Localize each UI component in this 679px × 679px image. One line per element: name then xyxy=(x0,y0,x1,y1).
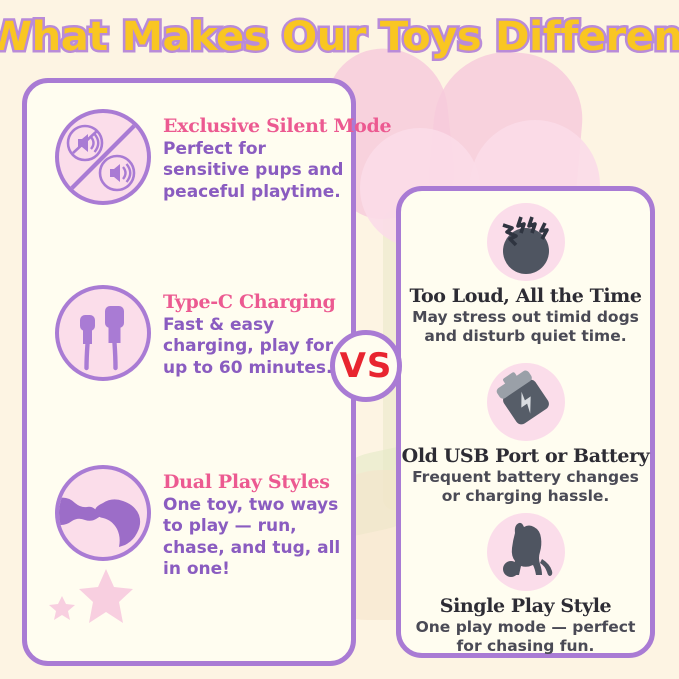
pros-item-body: Perfect for sensitive pups and peaceful … xyxy=(163,139,353,203)
cons-item-body: Frequent battery changes or charging has… xyxy=(401,468,650,506)
cons-item-heading: Single Play Style xyxy=(401,595,650,617)
pros-item-text: Exclusive Silent Mode Perfect for sensit… xyxy=(163,109,391,203)
pros-item-heading: Type-C Charging xyxy=(163,291,351,313)
pros-panel: Exclusive Silent Mode Perfect for sensit… xyxy=(22,78,356,666)
silent-mode-icon xyxy=(55,109,151,205)
usb-type-c-cable-icon xyxy=(55,285,151,381)
cons-item-body: One play mode — perfect for chasing fun. xyxy=(401,618,650,656)
cons-item-old-usb-battery: Old USB Port or Battery Frequent battery… xyxy=(401,363,650,506)
tug-of-war-dog-icon xyxy=(55,465,151,561)
title-banner: What Makes Our Toys Different xyxy=(0,14,679,60)
pros-item-dual-play-styles: Dual Play Styles One toy, two ways to pl… xyxy=(55,465,351,581)
pros-item-type-c-charging: Type-C Charging Fast & easy charging, pl… xyxy=(55,285,351,381)
cons-item-heading: Old USB Port or Battery xyxy=(401,445,650,467)
cons-item-single-play-style: Single Play Style One play mode — perfec… xyxy=(401,513,650,656)
pros-item-text: Type-C Charging Fast & easy charging, pl… xyxy=(163,285,351,379)
pros-item-heading: Dual Play Styles xyxy=(163,471,351,493)
vs-label: VS xyxy=(340,349,393,383)
battery-icon xyxy=(487,363,565,441)
infographic-canvas: What Makes Our Toys Different xyxy=(0,0,679,679)
pros-item-heading: Exclusive Silent Mode xyxy=(163,115,391,137)
pros-item-text: Dual Play Styles One toy, two ways to pl… xyxy=(163,465,351,581)
page-title: What Makes Our Toys Different xyxy=(0,14,679,60)
cons-item-heading: Too Loud, All the Time xyxy=(401,285,650,307)
cons-item-body: May stress out timid dogs and disturb qu… xyxy=(401,308,650,346)
pros-item-body: One toy, two ways to play — run, chase, … xyxy=(163,495,351,581)
vs-badge: VS xyxy=(330,330,402,402)
flower-decoration-large xyxy=(75,567,137,629)
cons-item-too-loud: Too Loud, All the Time May stress out ti… xyxy=(401,203,650,346)
pros-item-silent-mode: Exclusive Silent Mode Perfect for sensit… xyxy=(55,109,391,205)
pros-item-body: Fast & easy charging, play for up to 60 … xyxy=(163,315,351,379)
loud-noisy-ball-icon xyxy=(487,203,565,281)
flower-decoration-small xyxy=(47,593,77,623)
cons-panel: Too Loud, All the Time May stress out ti… xyxy=(396,186,655,658)
sitting-dog-with-ball-icon xyxy=(487,513,565,591)
